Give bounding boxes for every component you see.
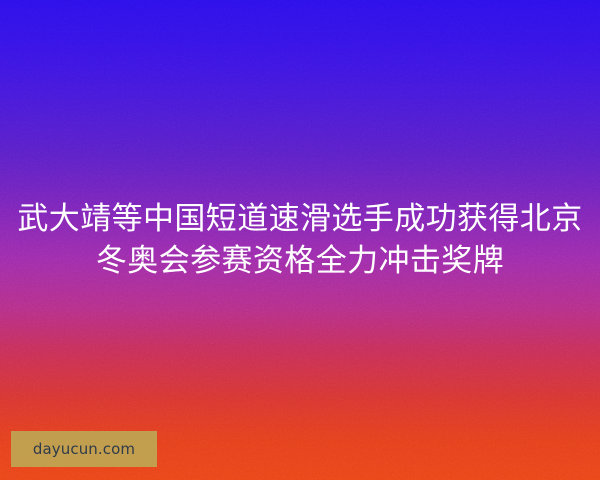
watermark-badge: dayucun.com xyxy=(11,431,157,467)
headline-text: 武大靖等中国短道速滑选手成功获得北京 冬奥会参赛资格全力冲击奖牌 xyxy=(0,198,600,282)
watermark-label: dayucun.com xyxy=(33,442,135,457)
banner-image: 武大靖等中国短道速滑选手成功获得北京 冬奥会参赛资格全力冲击奖牌 dayucun… xyxy=(0,0,600,480)
